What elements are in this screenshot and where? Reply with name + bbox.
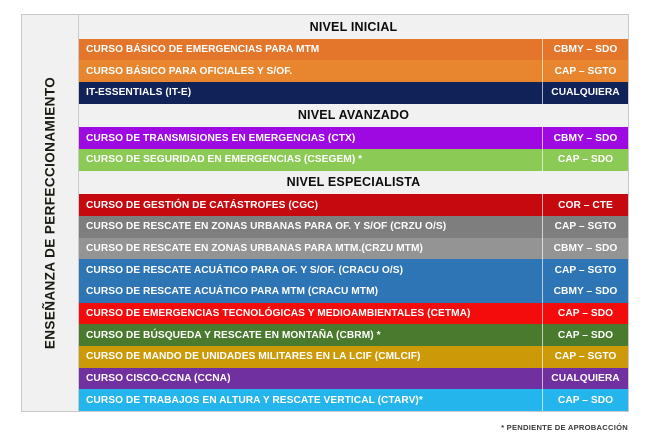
course-rank-range: CAP – SGTO [542, 259, 628, 281]
course-name: CURSO CISCO-CCNA (CCNA) [79, 368, 542, 390]
course-row[interactable]: CURSO DE RESCATE ACUÁTICO PARA OF. Y S/O… [79, 259, 628, 281]
table-body: NIVEL INICIALCURSO BÁSICO DE EMERGENCIAS… [79, 15, 628, 411]
course-name: CURSO DE BÚSQUEDA Y RESCATE EN MONTAÑA (… [79, 324, 542, 346]
course-row[interactable]: CURSO DE RESCATE EN ZONAS URBANAS PARA O… [79, 216, 628, 238]
course-name: CURSO DE EMERGENCIAS TECNOLÓGICAS Y MEDI… [79, 303, 542, 325]
course-rank-range: CAP – SGTO [542, 346, 628, 368]
course-row[interactable]: CURSO DE RESCATE EN ZONAS URBANAS PARA M… [79, 238, 628, 260]
course-name: IT-ESSENTIALS (IT-E) [79, 82, 542, 104]
course-name: CURSO DE TRABAJOS EN ALTURA Y RESCATE VE… [79, 389, 542, 411]
section-title: NIVEL ESPECIALISTA [79, 171, 628, 195]
footnote-pending-approval: * PENDIENTE DE APROBACCIÓN [501, 423, 628, 432]
table-frame: ENSEÑANZA DE PERFECCIONAMIENTO NIVEL INI… [21, 14, 629, 412]
course-name: CURSO BÁSICO PARA OFICIALES Y S/OF. [79, 60, 542, 82]
course-row[interactable]: CURSO DE TRANSMISIONES EN EMERGENCIAS (C… [79, 127, 628, 149]
course-name: CURSO DE MANDO DE UNIDADES MILITARES EN … [79, 346, 542, 368]
section-header-row: NIVEL INICIAL [79, 15, 628, 39]
section-title: NIVEL INICIAL [79, 15, 628, 39]
section-header-row: NIVEL AVANZADO [79, 104, 628, 128]
course-rank-range: CAP – SGTO [542, 216, 628, 238]
course-row[interactable]: CURSO DE GESTIÓN DE CATÁSTROFES (CGC)COR… [79, 194, 628, 216]
course-rank-range: CAP – SDO [542, 389, 628, 411]
course-row[interactable]: CURSO DE BÚSQUEDA Y RESCATE EN MONTAÑA (… [79, 324, 628, 346]
vertical-axis-label-column: ENSEÑANZA DE PERFECCIONAMIENTO [22, 15, 79, 411]
vertical-axis-label: ENSEÑANZA DE PERFECCIONAMIENTO [43, 77, 58, 349]
course-rank-range: CUALQUIERA [542, 82, 628, 104]
training-levels-table: ENSEÑANZA DE PERFECCIONAMIENTO NIVEL INI… [0, 0, 650, 438]
course-rank-range: CAP – SDO [542, 324, 628, 346]
course-row[interactable]: CURSO BÁSICO PARA OFICIALES Y S/OF.CAP –… [79, 60, 628, 82]
course-row[interactable]: CURSO CISCO-CCNA (CCNA)CUALQUIERA [79, 368, 628, 390]
course-row[interactable]: CURSO BÁSICO DE EMERGENCIAS PARA MTMCBMY… [79, 39, 628, 61]
course-rank-range: CBMY – SDO [542, 39, 628, 61]
section-header-row: NIVEL ESPECIALISTA [79, 171, 628, 195]
section-title: NIVEL AVANZADO [79, 104, 628, 128]
course-name: CURSO DE TRANSMISIONES EN EMERGENCIAS (C… [79, 127, 542, 149]
course-rank-range: CAP – SDO [542, 149, 628, 171]
course-rank-range: CBMY – SDO [542, 238, 628, 260]
course-name: CURSO DE SEGURIDAD EN EMERGENCIAS (CSEGE… [79, 149, 542, 171]
course-row[interactable]: CURSO DE SEGURIDAD EN EMERGENCIAS (CSEGE… [79, 149, 628, 171]
course-rank-range: CAP – SDO [542, 303, 628, 325]
course-name: CURSO DE RESCATE EN ZONAS URBANAS PARA O… [79, 216, 542, 238]
course-row[interactable]: CURSO DE MANDO DE UNIDADES MILITARES EN … [79, 346, 628, 368]
course-rank-range: CBMY – SDO [542, 127, 628, 149]
course-row[interactable]: CURSO DE TRABAJOS EN ALTURA Y RESCATE VE… [79, 389, 628, 411]
course-name: CURSO DE RESCATE EN ZONAS URBANAS PARA M… [79, 238, 542, 260]
course-name: CURSO DE RESCATE ACUÁTICO PARA OF. Y S/O… [79, 259, 542, 281]
course-rank-range: CUALQUIERA [542, 368, 628, 390]
course-name: CURSO DE GESTIÓN DE CATÁSTROFES (CGC) [79, 194, 542, 216]
course-name: CURSO BÁSICO DE EMERGENCIAS PARA MTM [79, 39, 542, 61]
course-row[interactable]: CURSO DE RESCATE ACUÁTICO PARA MTM (CRAC… [79, 281, 628, 303]
course-rank-range: CBMY – SDO [542, 281, 628, 303]
course-name: CURSO DE RESCATE ACUÁTICO PARA MTM (CRAC… [79, 281, 542, 303]
course-row[interactable]: CURSO DE EMERGENCIAS TECNOLÓGICAS Y MEDI… [79, 303, 628, 325]
course-row[interactable]: IT-ESSENTIALS (IT-E)CUALQUIERA [79, 82, 628, 104]
course-rank-range: COR – CTE [542, 194, 628, 216]
course-rank-range: CAP – SGTO [542, 60, 628, 82]
